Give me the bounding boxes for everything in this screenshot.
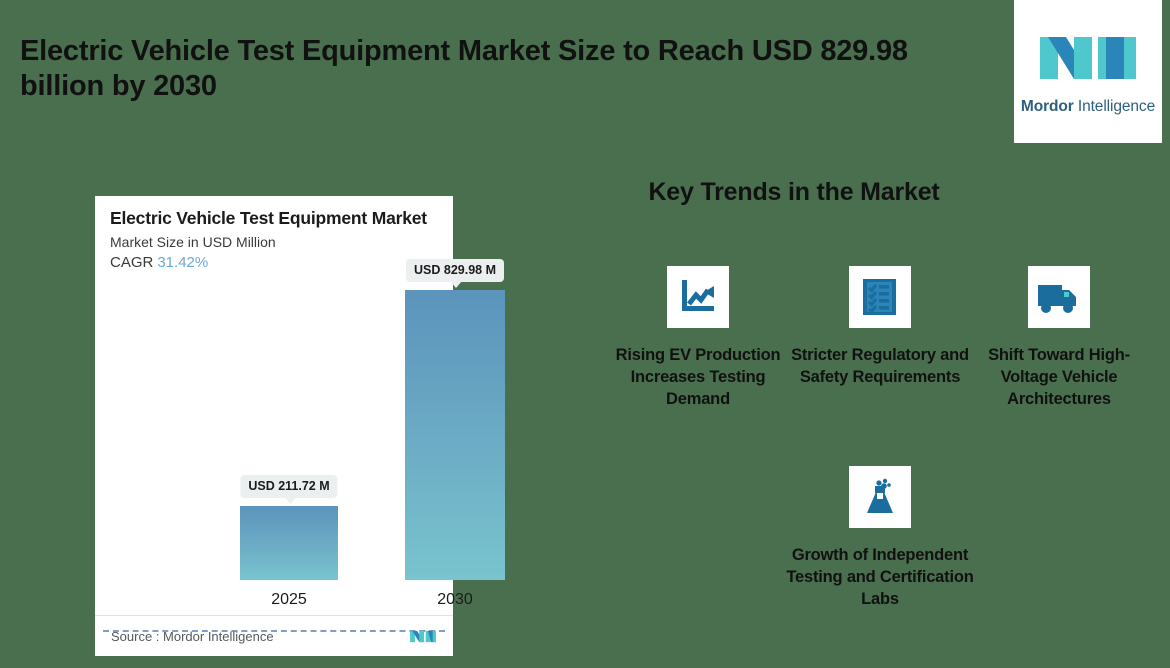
- page-headline: Electric Vehicle Test Equipment Market S…: [20, 34, 970, 105]
- trend-icon-tile-0: [667, 266, 729, 328]
- trend-icon-tile-3: [849, 466, 911, 528]
- mordor-m-logo-icon: [409, 628, 437, 645]
- trend-icon-tile-2: [1028, 266, 1090, 328]
- trend-label-2: Shift Toward High-Voltage Vehicle Archit…: [964, 345, 1154, 410]
- chart-source-text: Source : Mordor Intelligence: [111, 629, 409, 644]
- key-trends-title: Key Trends in the Market: [608, 178, 980, 207]
- growth-chart-icon: [676, 275, 720, 319]
- bar-2030: [405, 290, 505, 580]
- delivery-truck-icon: [1036, 277, 1082, 317]
- bar-2025: [240, 506, 338, 580]
- brand-name-bold: Mordor: [1021, 98, 1074, 115]
- trend-item-1: Stricter Regulatory and Safety Requireme…: [785, 266, 975, 389]
- x-axis-label-2030: 2030: [437, 591, 473, 609]
- chart-title: Electric Vehicle Test Equipment Market: [110, 208, 427, 229]
- mordor-m-logo-icon: [1036, 27, 1140, 89]
- checklist-clipboard-icon: [858, 275, 902, 319]
- trend-item-0: Rising EV Production Increases Testing D…: [603, 266, 793, 410]
- bar-value-badge-2030: USD 829.98 M: [406, 259, 504, 282]
- trend-item-3: Growth of Independent Testing and Certif…: [785, 466, 975, 610]
- brand-logo-card: Mordor Intelligence: [1014, 0, 1162, 143]
- trend-item-2: Shift Toward High-Voltage Vehicle Archit…: [964, 266, 1154, 410]
- x-axis-label-2025: 2025: [271, 591, 307, 609]
- trend-label-3: Growth of Independent Testing and Certif…: [785, 545, 975, 610]
- cagr-row: CAGR31.42%: [110, 254, 208, 271]
- trend-label-1: Stricter Regulatory and Safety Requireme…: [785, 345, 975, 389]
- cagr-label: CAGR: [110, 254, 153, 271]
- chart-subtitle: Market Size in USD Million: [110, 234, 276, 250]
- lab-flask-icon: [859, 476, 901, 518]
- market-size-chart-card: Electric Vehicle Test Equipment Market M…: [95, 196, 453, 656]
- chart-footer: Source : Mordor Intelligence: [95, 615, 453, 656]
- trend-label-0: Rising EV Production Increases Testing D…: [603, 345, 793, 410]
- brand-name-light: Intelligence: [1074, 98, 1155, 115]
- cagr-value: 31.42%: [157, 254, 208, 271]
- trend-icon-tile-1: [849, 266, 911, 328]
- bar-value-badge-2025: USD 211.72 M: [240, 475, 337, 498]
- brand-wordmark: Mordor Intelligence: [1021, 98, 1155, 116]
